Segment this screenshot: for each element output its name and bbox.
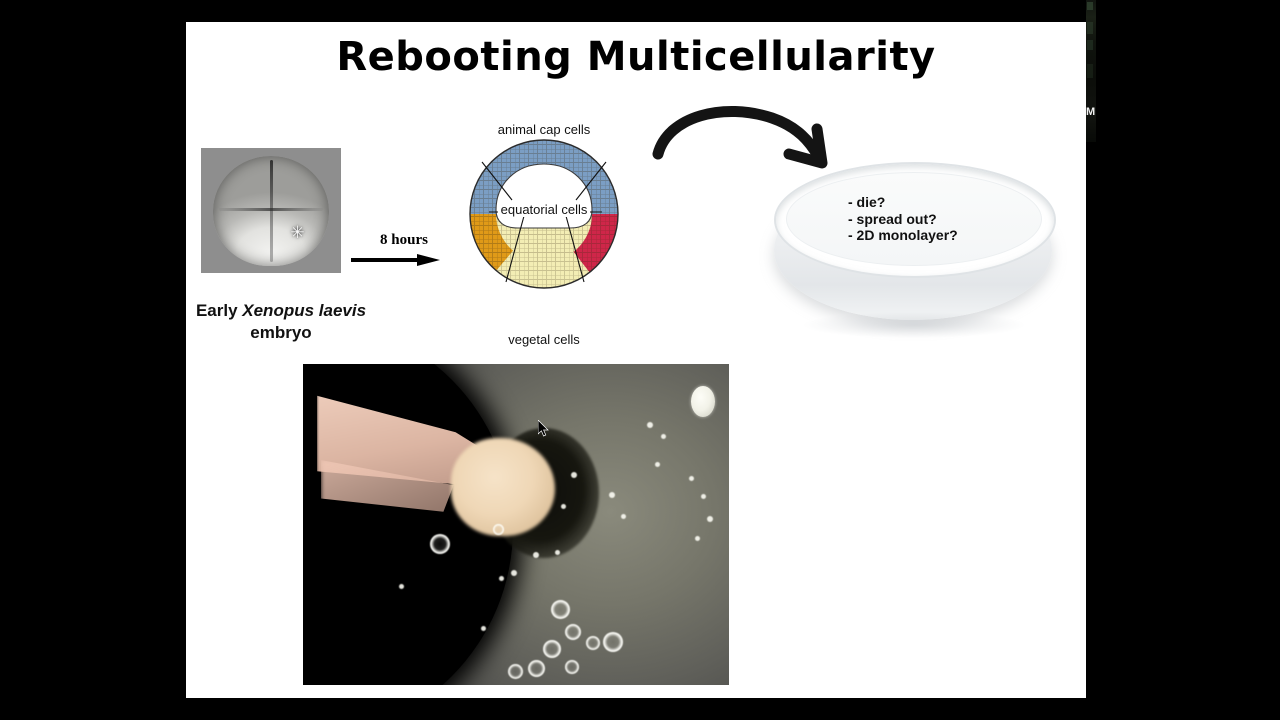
- mouse-pointer-icon: [538, 420, 550, 438]
- starburst-icon: ✳: [289, 224, 306, 241]
- cell-ring: [508, 664, 523, 679]
- debris-dot: [621, 514, 626, 519]
- petri-dish-shadow: [804, 312, 1024, 338]
- microscopy-video-frame[interactable]: [303, 364, 729, 685]
- edge-pixel: [1087, 40, 1093, 50]
- debris-dot: [533, 552, 539, 558]
- debris-dot: [571, 472, 577, 478]
- edge-pixel: [1087, 64, 1093, 78]
- right-arrow-icon: [351, 253, 441, 267]
- cleavage-furrow-vertical: [270, 160, 273, 262]
- cell-mass: [451, 438, 555, 536]
- debris-dot: [555, 550, 560, 555]
- petri-dish-icon: - die? - spread out? - 2D monolayer?: [774, 162, 1054, 352]
- cell-ring: [586, 636, 600, 650]
- debris-dot: [689, 476, 694, 481]
- embryo-caption-species: Xenopus laevis: [242, 301, 366, 320]
- cell-ring: [603, 632, 623, 652]
- cell-ring: [528, 660, 545, 677]
- edge-strip-label: M: [1086, 106, 1096, 118]
- screen: Rebooting Multicellularity ✳ Early Xenop…: [0, 0, 1280, 720]
- duration-label: 8 hours: [364, 232, 444, 249]
- debris-dot: [609, 492, 615, 498]
- embryo-photo: ✳: [201, 148, 341, 273]
- embryo-caption-suffix: embryo: [250, 323, 311, 342]
- cell-ring: [543, 640, 561, 658]
- slide-canvas: Rebooting Multicellularity ✳ Early Xenop…: [186, 22, 1086, 698]
- embryo-caption: Early Xenopus laevis embryo: [186, 300, 376, 344]
- page-title: Rebooting Multicellularity: [186, 34, 1086, 80]
- cell-ring: [565, 660, 579, 674]
- blastula-diagram: animal cap cells equatorial cells vegeta…: [434, 104, 654, 354]
- debris-dot: [399, 584, 404, 589]
- debris-dot: [701, 494, 706, 499]
- edge-pixel: [1087, 22, 1093, 34]
- embryo-caption-prefix: Early: [196, 301, 242, 320]
- cell-ring: [551, 600, 570, 619]
- debris-dot: [655, 462, 660, 467]
- cell-ring: [430, 534, 450, 554]
- debris-dot: [561, 504, 566, 509]
- cell-ring: [565, 624, 581, 640]
- label-equatorial-cells-text: equatorial cells: [498, 202, 591, 217]
- cell-ring: [493, 524, 504, 535]
- debris-dot: [707, 516, 713, 522]
- debris-dot: [511, 570, 517, 576]
- debris-dot: [647, 422, 653, 428]
- petri-question-2: - 2D monolayer?: [848, 227, 958, 244]
- petri-question-1: - spread out?: [848, 211, 958, 228]
- cleavage-furrow-horizontal: [219, 208, 323, 211]
- petri-dish-question-list: - die? - spread out? - 2D monolayer?: [848, 194, 958, 244]
- debris-dot: [695, 536, 700, 541]
- label-animal-cap-cells: animal cap cells: [434, 122, 654, 137]
- petri-question-0: - die?: [848, 194, 958, 211]
- label-equatorial-cells: equatorial cells: [434, 202, 654, 217]
- debris-dot: [661, 434, 666, 439]
- debris-dot: [481, 626, 486, 631]
- edge-pixel: [1087, 2, 1093, 10]
- oocyte-icon: [691, 386, 715, 417]
- debris-dot: [499, 576, 504, 581]
- label-vegetal-cells: vegetal cells: [434, 332, 654, 347]
- offscreen-panel-edge[interactable]: M: [1086, 0, 1096, 142]
- blastula-svg: [434, 104, 654, 354]
